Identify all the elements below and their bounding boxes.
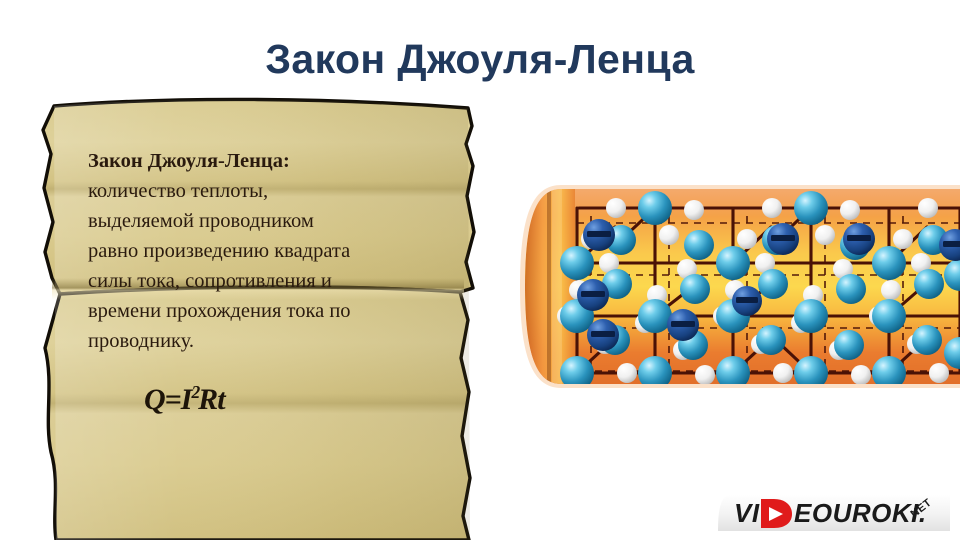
free-electron — [587, 319, 619, 351]
formula-quantity: Q — [144, 383, 165, 416]
logo-graphic[interactable]: VI EOUROKI. NET — [718, 491, 950, 535]
free-electron — [667, 309, 699, 341]
parchment-scroll: Закон Джоуля-Ленца: количество теплоты, … — [36, 92, 516, 540]
scroll-line: количество теплоты, — [88, 176, 464, 206]
formula-resistance: R — [198, 383, 217, 416]
logo-text-after: EOUROKI. — [794, 498, 927, 528]
scroll-line: равно произведению квадрата — [88, 236, 464, 266]
page-title: Закон Джоуля-Ленца — [0, 36, 960, 83]
free-electron — [732, 286, 762, 316]
conductor-body — [519, 183, 960, 390]
logo-text-before: VI — [734, 498, 760, 528]
crystal-lattice-diagram — [519, 183, 960, 390]
videouroki-logo[interactable]: VI EOUROKI. NET — [718, 491, 950, 535]
scroll-line: проводнику. — [88, 326, 464, 356]
formula-equals: = — [165, 383, 181, 416]
free-electron — [583, 219, 615, 251]
joule-lenz-formula: Q=I2Rt — [144, 382, 464, 417]
conductor-illustration — [519, 183, 960, 390]
scroll-line: силы тока, сопротивления и — [88, 266, 464, 296]
free-electron — [577, 279, 609, 311]
scroll-line: времени прохождения тока по — [88, 296, 464, 326]
free-electron — [843, 223, 875, 255]
scroll-text-block: Закон Джоуля-Ленца: количество теплоты, … — [88, 146, 464, 417]
formula-current: I — [181, 383, 192, 416]
scroll-heading: Закон Джоуля-Ленца: — [88, 146, 464, 176]
conductor-cap-seam — [547, 189, 551, 384]
formula-time: t — [217, 383, 224, 416]
scroll-line: выделяемой проводником — [88, 206, 464, 236]
free-electron — [767, 223, 799, 255]
